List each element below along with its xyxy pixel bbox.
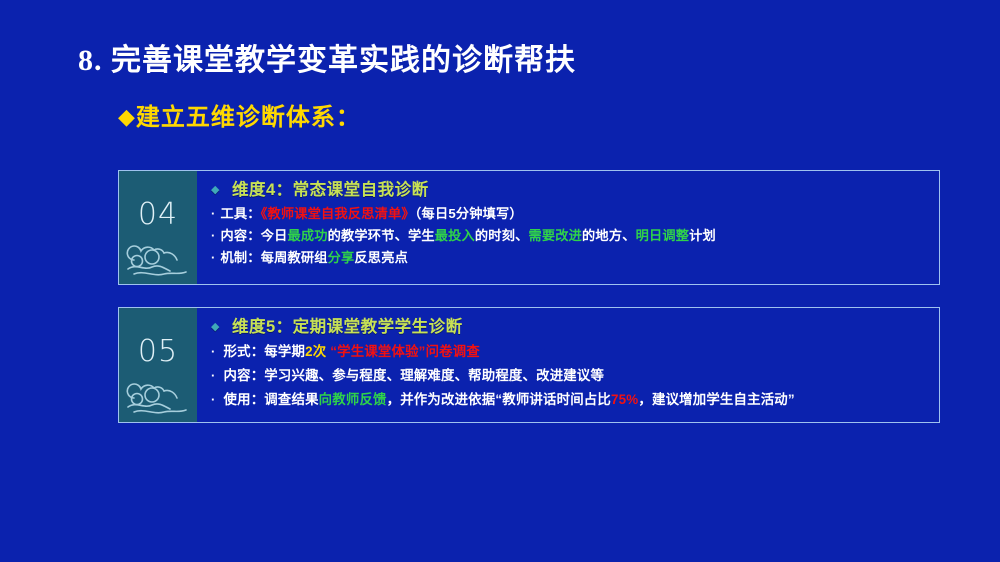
line-segment: 内容：学习兴趣、参与程度、理解难度、帮助程度、改进建议等	[224, 368, 605, 383]
card-body: ◆维度4：常态课堂自我诊断 ·工具：《教师课堂自我反思清单》（每日5分钟填写） …	[197, 171, 939, 284]
line-segment: 的地方、	[582, 228, 636, 243]
line-segment: 计划	[689, 228, 716, 243]
card-line: ·使用：调查结果向教师反馈，并作为改进依据“教师讲话时间占比75%，建议增加学生…	[211, 388, 939, 412]
bullet-dot-icon: ·	[211, 228, 216, 243]
diamond-bullet-icon: ◆	[211, 321, 220, 333]
cloud-wave-icon	[124, 378, 194, 418]
section-subtitle-label: 建立五维诊断体系：	[136, 105, 361, 131]
diamond-icon: ◆	[118, 104, 136, 129]
line-segment: 的时刻、	[475, 228, 529, 243]
card-line: ·形式：每学期2次 “学生课堂体验”问卷调查	[211, 340, 939, 364]
card-number: 05	[119, 334, 197, 369]
card-number: 04	[119, 197, 197, 232]
dimension-card-05[interactable]: 05 ◆维度5：定期课堂教学学生诊断 ·形式：每学期2次 “学生课堂体验”问卷调…	[118, 307, 940, 423]
dimension-card-04[interactable]: 04 ◆维度4：常态课堂自我诊断 ·工具：《教师课堂自我反思清单》（每日5分钟填…	[118, 170, 940, 285]
line-segment: 《教师课堂自我反思清单》	[261, 206, 415, 221]
card-title-label: 维度4：常态课堂自我诊断	[232, 181, 429, 199]
line-segment: 向教师反馈	[319, 392, 387, 407]
card-line: ·内容：今日最成功的教学环节、学生最投入的时刻、需要改进的地方、明日调整计划	[211, 225, 939, 247]
card-line: ·内容：学习兴趣、参与程度、理解难度、帮助程度、改进建议等	[211, 364, 939, 388]
line-segment: 内容：今日	[221, 228, 288, 243]
line-segment: 最投入	[435, 228, 475, 243]
line-segment: “学生课堂体验”问卷调查	[326, 344, 480, 359]
bullet-dot-icon: ·	[211, 250, 216, 265]
line-segment: ，并作为改进依据“教师讲话时间占比	[387, 392, 611, 407]
line-segment: 机制：每周教研组	[221, 250, 328, 265]
bullet-dot-icon: ·	[211, 368, 216, 383]
line-segment: 需要改进	[528, 228, 582, 243]
line-segment: 使用：调查结果	[224, 392, 319, 407]
line-segment: 工具：	[221, 206, 261, 221]
line-segment: 75%	[611, 392, 638, 407]
line-segment: 最成功	[287, 228, 327, 243]
bullet-dot-icon: ·	[211, 206, 216, 221]
card-title-04: ◆维度4：常态课堂自我诊断	[211, 180, 939, 200]
line-segment: 明日调整	[636, 228, 690, 243]
card-number-panel: 04	[119, 171, 197, 284]
slide-canvas: 8. 完善课堂教学变革实践的诊断帮扶 ◆建立五维诊断体系： 04 ◆维度4：常态…	[0, 0, 1000, 562]
bullet-dot-icon: ·	[211, 344, 216, 359]
line-segment: （每日5分钟填写）	[415, 206, 523, 221]
card-line: ·工具：《教师课堂自我反思清单》（每日5分钟填写）	[211, 203, 939, 225]
card-title-label: 维度5：定期课堂教学学生诊断	[232, 318, 463, 336]
card-number-panel: 05	[119, 308, 197, 422]
diamond-bullet-icon: ◆	[211, 184, 220, 196]
card-body: ◆维度5：定期课堂教学学生诊断 ·形式：每学期2次 “学生课堂体验”问卷调查 ·…	[197, 308, 939, 422]
line-segment: ，建议增加学生自主活动”	[638, 392, 794, 407]
line-segment: 形式：每学期	[224, 344, 306, 359]
card-title-05: ◆维度5：定期课堂教学学生诊断	[211, 317, 939, 337]
page-title: 8. 完善课堂教学变革实践的诊断帮扶	[78, 44, 576, 77]
bullet-dot-icon: ·	[211, 392, 216, 407]
cloud-wave-icon	[124, 240, 194, 280]
line-segment: 反思亮点	[354, 250, 408, 265]
line-segment: 分享	[328, 250, 355, 265]
line-segment: 2次	[305, 344, 326, 359]
section-subtitle: ◆建立五维诊断体系：	[118, 105, 361, 131]
card-line: ·机制：每周教研组分享反思亮点	[211, 247, 939, 269]
line-segment: 的教学环节、学生	[328, 228, 435, 243]
